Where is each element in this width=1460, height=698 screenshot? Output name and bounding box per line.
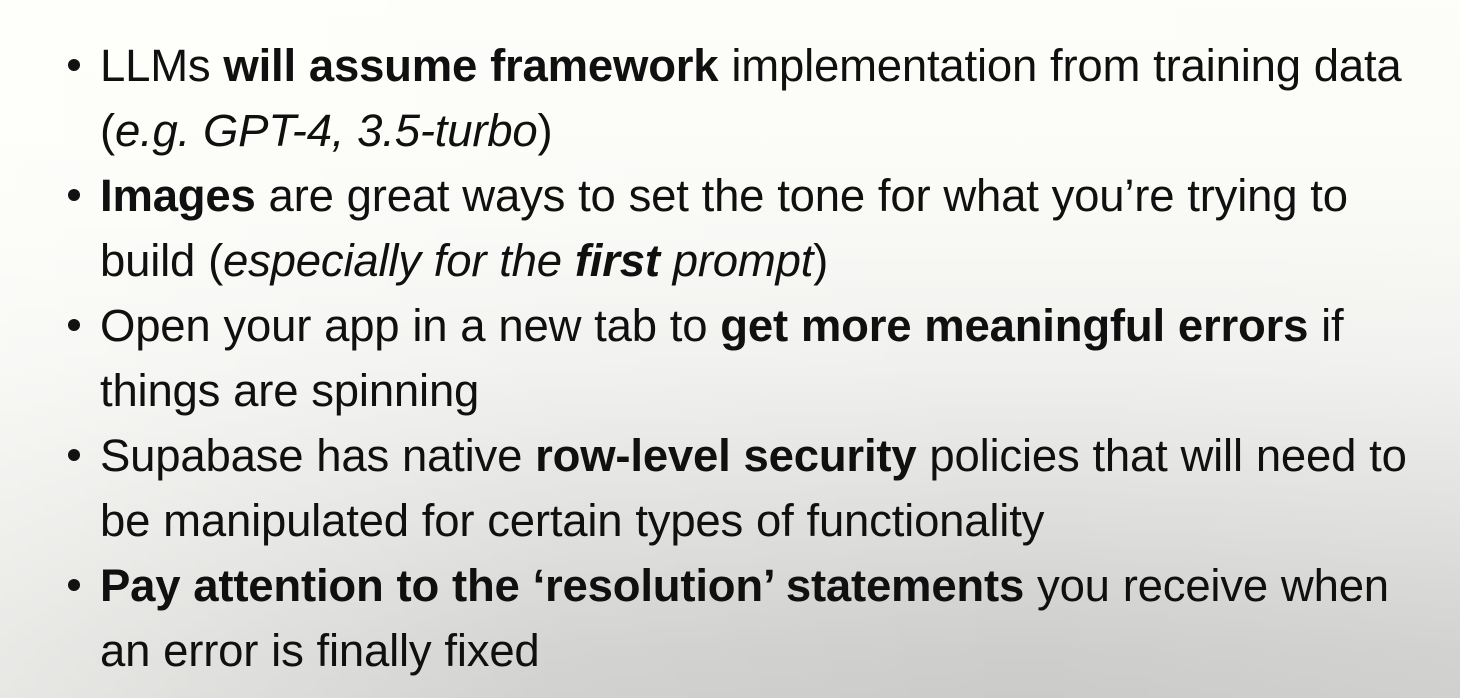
bullet-dot-icon [68, 59, 80, 71]
text-run: Images [100, 170, 256, 221]
list-item: LLMs will assume framework implementatio… [0, 33, 1460, 163]
text-run: get more meaningful errors [720, 300, 1308, 351]
list-item: Supabase has native row-level security p… [0, 423, 1460, 553]
text-run: LLMs [100, 40, 223, 91]
text-run: Supabase has native [100, 430, 535, 481]
text-run: especially for the [223, 235, 575, 286]
bullet-dot-icon [68, 579, 80, 591]
list-item: Open your app in a new tab to get more m… [0, 293, 1460, 423]
text-run: prompt [660, 235, 813, 286]
text-run: first [575, 235, 660, 286]
bullet-dot-icon [68, 319, 80, 331]
bullet-text: LLMs will assume framework implementatio… [100, 40, 1402, 156]
bullet-text: Supabase has native row-level security p… [100, 430, 1407, 546]
text-run: Pay attention to the ‘resolution’ statem… [100, 560, 1024, 611]
text-run: Open your app in a new tab to [100, 300, 720, 351]
text-run: will assume framework [223, 40, 718, 91]
bullet-text: Pay attention to the ‘resolution’ statem… [100, 560, 1389, 676]
bullet-text: Images are great ways to set the tone fo… [100, 170, 1348, 286]
text-run: row-level security [535, 430, 916, 481]
text-run: ) [538, 105, 553, 156]
bullet-list: LLMs will assume framework implementatio… [0, 0, 1460, 683]
text-run: ) [813, 235, 828, 286]
slide-canvas: LLMs will assume framework implementatio… [0, 0, 1460, 698]
bullet-dot-icon [68, 189, 80, 201]
list-item: Images are great ways to set the tone fo… [0, 163, 1460, 293]
bullet-dot-icon [68, 449, 80, 461]
bullet-text: Open your app in a new tab to get more m… [100, 300, 1343, 416]
list-item: Pay attention to the ‘resolution’ statem… [0, 553, 1460, 683]
text-run: e.g. GPT-4, 3.5-turbo [115, 105, 538, 156]
